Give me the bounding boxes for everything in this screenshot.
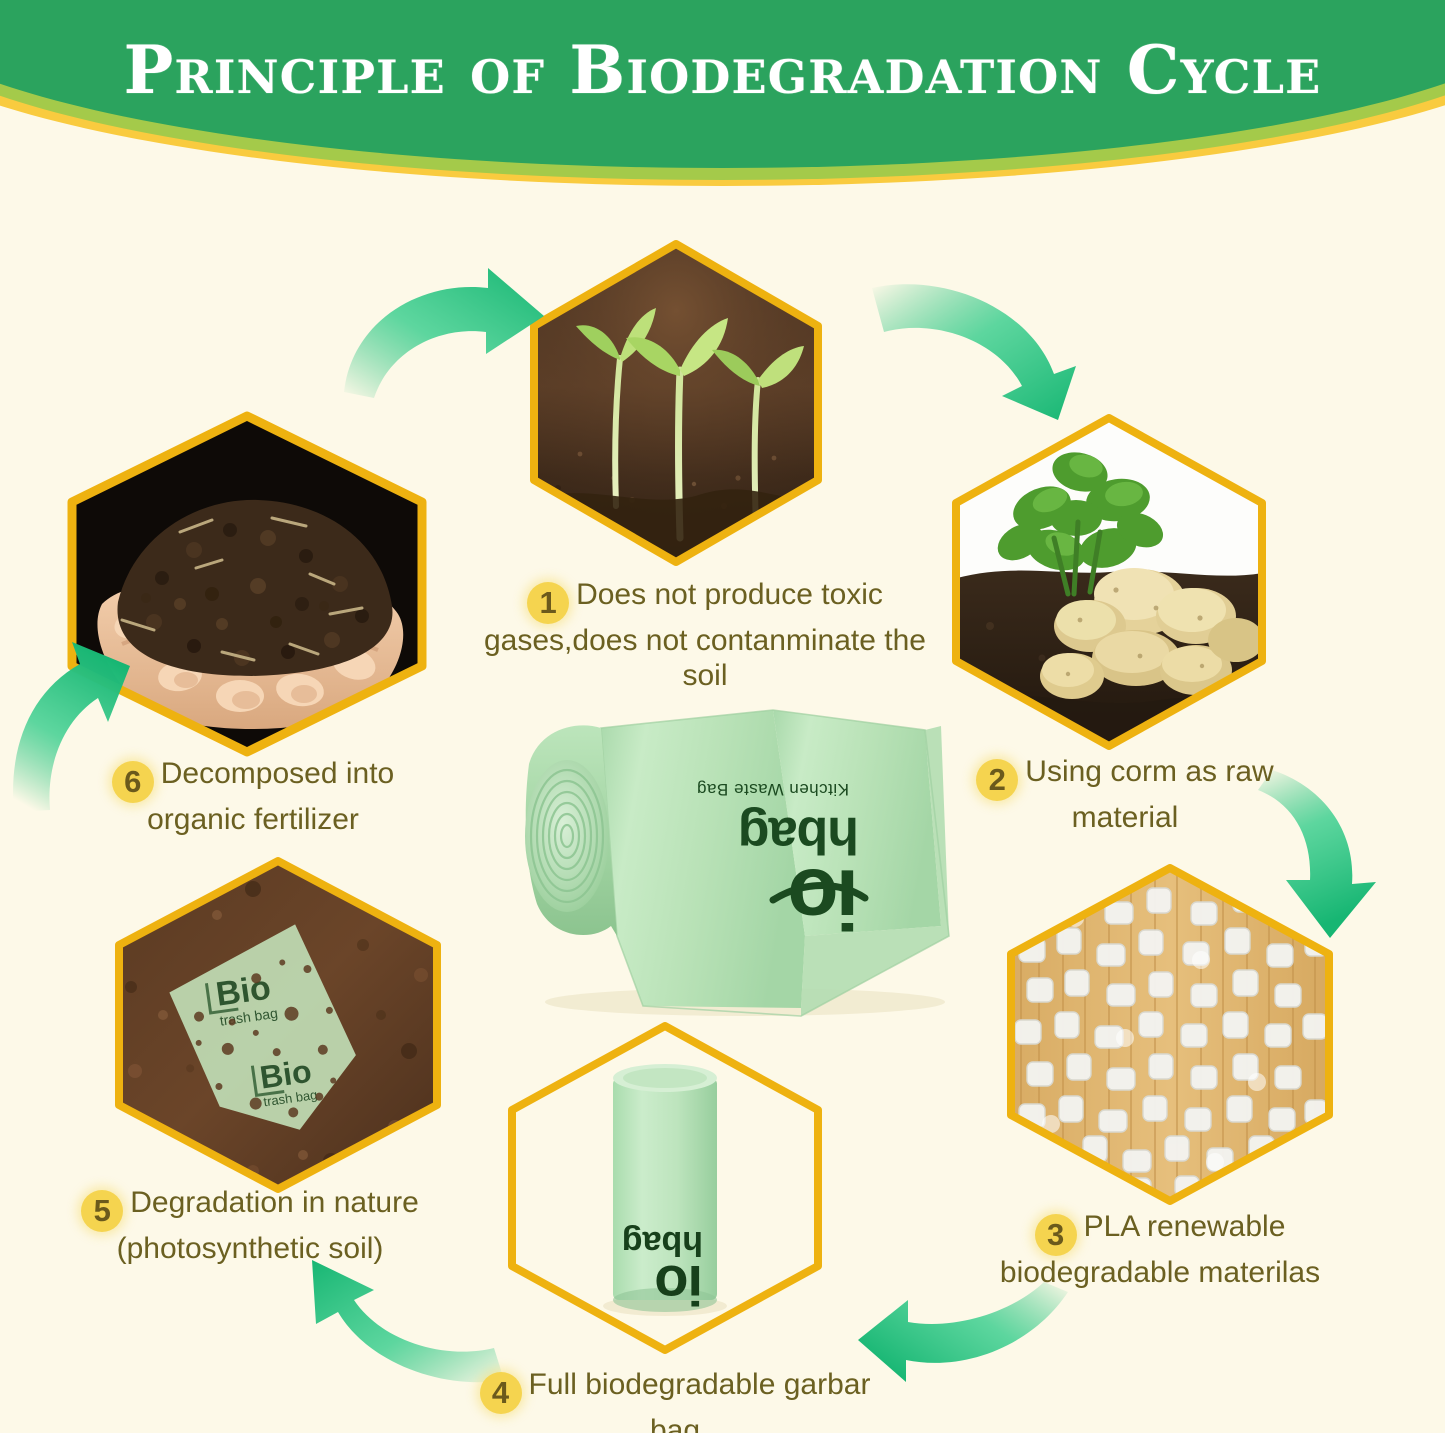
step-text-4: Full biodegradable garbar bag <box>529 1368 871 1433</box>
step-number-badge-3: 3 <box>1035 1214 1077 1256</box>
step-caption-2: 2Using corm as raw material <box>950 755 1300 836</box>
arrow-curved-right-icon <box>330 258 560 408</box>
arrow-curved-up-left-icon <box>278 1250 508 1395</box>
potato-plant-image <box>950 412 1268 752</box>
svg-text:Kitchen Waste Bag: Kitchen Waste Bag <box>697 780 849 799</box>
svg-text:hbag: hbag <box>739 806 859 864</box>
step-caption-4: 4Full biodegradable garbar bag <box>475 1368 875 1433</box>
step-caption-6: 6Decomposed into organic fertilizer <box>68 757 438 838</box>
infographic-canvas: Principle of Biodegradation Cycle <box>0 0 1445 1433</box>
step-caption-5: 5Degradation in nature (photosynthetic s… <box>40 1186 460 1267</box>
arrow-6-to-1 <box>330 258 560 408</box>
hex-tile-5-bag-degrading: Bio trash bag Bio trash bag <box>113 855 443 1195</box>
svg-text:hbag: hbag <box>622 1224 703 1262</box>
seedlings-in-soil-image <box>528 238 824 568</box>
svg-text:io: io <box>790 852 859 946</box>
header-banner: Principle of Biodegradation Cycle <box>0 0 1445 200</box>
hex-tile-4-bag-roll: io hbag <box>505 1018 825 1358</box>
step-caption-1: 1Does not produce toxic gases,does not c… <box>470 578 940 694</box>
bio-bag-in-soil-image: Bio trash bag Bio trash bag <box>113 855 443 1195</box>
arrow-3-to-4 <box>856 1280 1076 1400</box>
unrolled-bag-roll-image: io hbag Kitchen Waste Bag <box>505 690 965 1020</box>
step-text-5: Degradation in nature (photosynthetic so… <box>117 1186 419 1265</box>
center-product-bag-roll: io hbag Kitchen Waste Bag <box>505 690 965 1020</box>
step-text-6: Decomposed into organic fertilizer <box>147 757 394 836</box>
step-text-2: Using corm as raw material <box>1025 755 1273 834</box>
arrow-4-to-5 <box>278 1250 508 1395</box>
step-number-badge-5: 5 <box>81 1190 123 1232</box>
arrow-curved-down-right-icon <box>862 262 1092 422</box>
arrow-1-to-2 <box>862 262 1092 422</box>
hex-tile-2-potatoes <box>950 412 1268 752</box>
hex-tile-1-seedlings <box>528 238 824 568</box>
biohbag-roll-image: io hbag <box>505 1018 825 1358</box>
step-number-badge-6: 6 <box>112 761 154 803</box>
step-number-badge-4: 4 <box>480 1372 522 1414</box>
page-title: Principle of Biodegradation Cycle <box>0 36 1445 105</box>
step-caption-3: 3PLA renewable biodegradable materilas <box>960 1210 1360 1291</box>
arrow-curved-left-icon <box>856 1280 1076 1400</box>
svg-text:io: io <box>655 1254 703 1317</box>
step-number-badge-1: 1 <box>527 582 569 624</box>
step-number-badge-2: 2 <box>976 759 1018 801</box>
